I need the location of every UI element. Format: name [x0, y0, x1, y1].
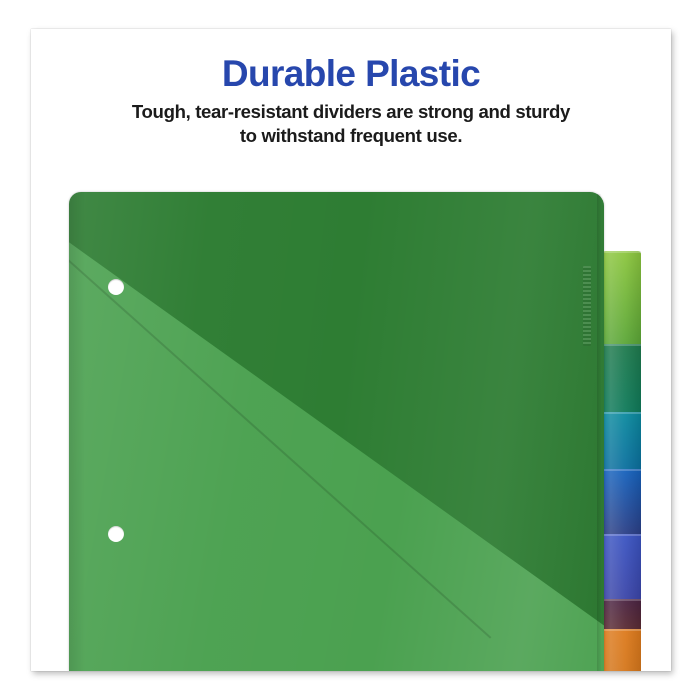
tab-gloss	[600, 599, 641, 629]
tab-top-highlight	[600, 599, 641, 601]
reinforced-rib-strip	[583, 266, 591, 346]
tab-5-royal-blue[interactable]	[600, 534, 641, 599]
tab-7-orange[interactable]	[600, 629, 641, 671]
tab-1-light-green[interactable]	[600, 251, 641, 344]
tab-top-highlight	[600, 251, 641, 253]
page-subtitle-line-1: Tough, tear-resistant dividers are stron…	[132, 101, 570, 122]
tab-gloss	[600, 251, 641, 344]
tab-top-highlight	[600, 412, 641, 414]
green-plastic-divider	[69, 192, 604, 671]
page-subtitle-line-2: to withstand frequent use.	[240, 125, 462, 146]
tab-2-dark-green[interactable]	[600, 344, 641, 412]
tab-top-highlight	[600, 344, 641, 346]
page-title: Durable Plastic	[31, 55, 671, 94]
sheet-right-edge-shadow	[597, 194, 601, 671]
screenshot-stage: Durable Plastic Tough, tear-resistant di…	[0, 0, 700, 700]
bottom-punch-hole	[108, 526, 124, 542]
tab-gloss	[600, 344, 641, 412]
tab-6-purple[interactable]	[600, 599, 641, 629]
top-punch-hole	[108, 279, 124, 295]
tab-gloss	[600, 469, 641, 534]
diagonal-pocket-flap	[69, 192, 604, 671]
index-tab-stack	[600, 222, 641, 671]
page-subtitle: Tough, tear-resistant dividers are stron…	[51, 100, 651, 149]
tab-top-highlight	[600, 469, 641, 471]
tab-4-blue[interactable]	[600, 469, 641, 534]
product-image-card: Durable Plastic Tough, tear-resistant di…	[31, 29, 671, 671]
tab-gloss	[600, 629, 641, 671]
tab-top-highlight	[600, 629, 641, 631]
tab-top-highlight	[600, 534, 641, 536]
tab-3-teal[interactable]	[600, 412, 641, 469]
tab-gloss	[600, 412, 641, 469]
tab-gloss	[600, 534, 641, 599]
